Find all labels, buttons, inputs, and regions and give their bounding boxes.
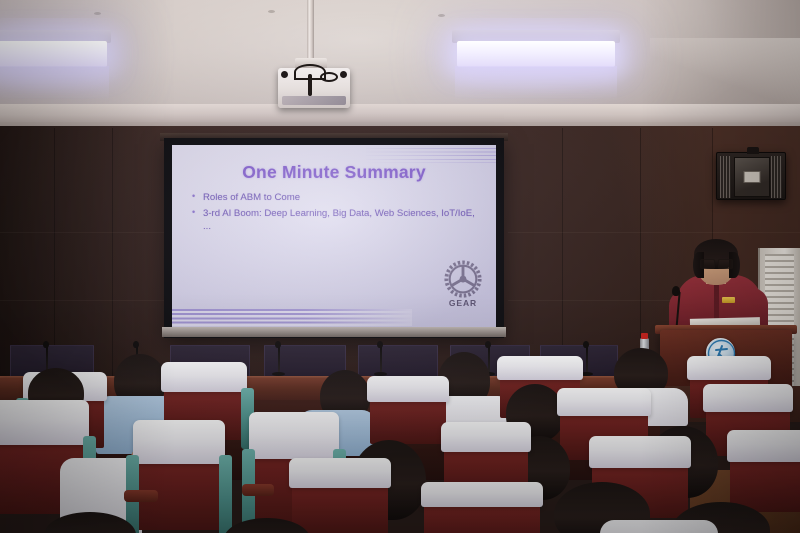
gear-icon [442, 260, 484, 300]
slide-bullet-item: 3-rd AI Boom: Deep Learning, Big Data, W… [190, 207, 480, 234]
projector-knob [340, 71, 347, 78]
presenter-glasses [700, 259, 733, 267]
seat-cover [441, 422, 531, 452]
wall-panel-seam-h [508, 232, 800, 233]
light-spill [0, 66, 109, 100]
seat-cover [249, 412, 339, 459]
light-spill [455, 66, 616, 100]
speaker-bracket [747, 147, 759, 154]
audience-shirt [600, 520, 718, 533]
seat[interactable] [370, 382, 446, 444]
seat[interactable] [292, 464, 388, 533]
speaker-grill [720, 156, 731, 198]
presentation-slide: One Minute Summary Roles of ABM to Come … [172, 145, 496, 328]
slide-accent-stripes-bottom [172, 309, 412, 326]
light-fixture-left [0, 30, 111, 70]
seat-armrest [124, 490, 158, 502]
seat-side-panel [219, 455, 232, 533]
seat-cover [421, 482, 543, 507]
ceiling-recess-dot [268, 10, 275, 13]
gear-logo-text: GEAR [442, 298, 484, 308]
seat-cover [497, 356, 583, 380]
wall-panel-seam-h [0, 300, 172, 301]
slide-bullet-item: Roles of ABM to Come [190, 191, 480, 205]
seat-cover [687, 356, 771, 380]
lecture-hall-scene: One Minute Summary Roles of ABM to Come … [0, 0, 800, 533]
fluorescent-tube [457, 41, 615, 67]
seat-cover [367, 376, 449, 402]
seat[interactable] [424, 488, 540, 533]
ceiling-recess-dot [438, 14, 445, 17]
projector-knob [281, 71, 288, 78]
seat-cover [703, 384, 793, 412]
slide-bullet-list: Roles of ABM to Come 3-rd AI Boom: Deep … [190, 191, 480, 236]
seat-cover [557, 388, 651, 416]
fluorescent-tube [0, 41, 107, 67]
seat-armrest [242, 484, 274, 496]
slide-accent-stripes-top [366, 147, 496, 163]
projector-cable [320, 72, 338, 82]
seat[interactable] [730, 436, 800, 512]
light-fixture-right [452, 30, 620, 70]
wall-mounted-speaker [716, 152, 786, 200]
podium-microphone-head [672, 286, 680, 296]
audience-area [0, 330, 800, 533]
wall-panel-seam-h [0, 232, 172, 233]
seat-cover [589, 436, 691, 468]
projector-mount-pole [307, 0, 314, 62]
speaker-grill [771, 156, 782, 198]
seat-cover [161, 362, 247, 392]
speaker-cone [734, 157, 770, 197]
seat-cover [133, 420, 225, 464]
seat[interactable] [136, 426, 222, 530]
ceiling-recess-dot [94, 12, 101, 15]
seat-cover [289, 458, 391, 488]
slide-title: One Minute Summary [172, 162, 496, 183]
seat-cover [727, 430, 800, 462]
gear-logo: GEAR [442, 260, 484, 308]
ceiling-projector [278, 68, 350, 108]
projector-cable [308, 74, 312, 96]
seat-cover [0, 400, 89, 445]
presenter-badge [722, 297, 735, 303]
